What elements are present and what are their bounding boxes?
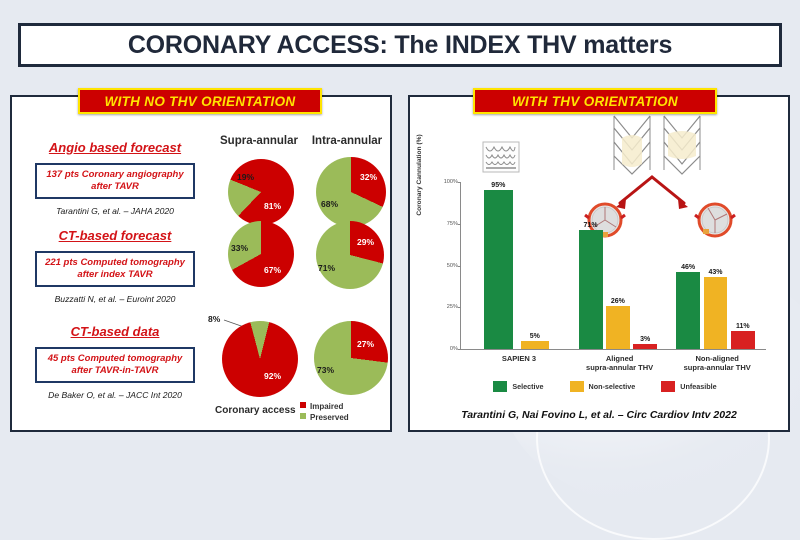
bar-chart: Coronary Cannulation (%) 0% 25% 50% 75% …: [438, 182, 768, 372]
page-title: CORONARY ACCESS: The INDEX THV matters: [128, 31, 672, 60]
ribbon-left-label: WITH NO THV ORIENTATION: [105, 94, 296, 109]
column-header-intra: Intra-annular: [297, 135, 397, 147]
ribbon-with-thv-orientation: WITH THV ORIENTATION: [473, 88, 717, 114]
coronary-access-label: Coronary access: [215, 405, 296, 416]
legend-preserved-label: Preserved: [310, 413, 349, 422]
balloon-expandable-stent-icon: [482, 141, 520, 173]
non-aligned-thv-icon: [660, 112, 706, 184]
pie-row2-supra-impaired-label: 67%: [264, 265, 281, 275]
plot-area: 0% 25% 50% 75% 100% 95% 5% SAPIEN 3: [460, 182, 766, 350]
pie-row1-supra-impaired-label: 81%: [264, 201, 281, 211]
right-panel: Coronary Cannulation (%) 0% 25% 50% 75% …: [408, 95, 790, 432]
legend-selective-label: Selective: [512, 382, 543, 391]
ribbon-right-label: WITH THV ORIENTATION: [512, 94, 678, 109]
row-3-heading: CT-based data: [71, 324, 160, 339]
x-category-aligned: Alignedsupra-annular THV: [586, 354, 653, 372]
legend-unfeasible-label: Unfeasible: [680, 382, 716, 391]
pie-row2-intra: [316, 221, 384, 289]
row-1-text: Angio based forecast 137 pts Coronary an…: [24, 139, 206, 216]
row-2-heading: CT-based forecast: [59, 228, 172, 243]
bar-label-aligned-nonselective: 26%: [611, 298, 625, 305]
pie-row3-intra-impaired-label: 27%: [357, 339, 374, 349]
bar-nonaligned-nonselective: 43%: [704, 277, 728, 349]
pie-row2-supra: [228, 221, 294, 287]
legend-preserved: Preserved: [300, 413, 349, 422]
row-3-text: CT-based data 45 pts Computed tomography…: [24, 323, 206, 400]
bar-label-nonaligned-unfeasible: 11%: [736, 323, 750, 330]
y-axis-title: Coronary Cannulation (%): [416, 120, 423, 230]
row-1-citation: Tarantini G, et al. – JAHA 2020: [24, 206, 206, 216]
pie-row2-intra-impaired-label: 29%: [357, 237, 374, 247]
pie-row3-supra-impaired-label: 92%: [264, 371, 281, 381]
pie-row3-intra: [314, 321, 388, 395]
bar-label-sapien3-selective: 95%: [491, 182, 505, 189]
slide-title-bar: CORONARY ACCESS: The INDEX THV matters: [18, 23, 782, 67]
pie-row2-intra-preserved-label: 71%: [318, 263, 335, 273]
legend-nonselective-label: Non-selective: [589, 382, 636, 391]
chart-legend-selective: Selective: [493, 381, 543, 392]
legend-impaired: Impaired: [300, 402, 343, 411]
bar-group-aligned: 71% 26% 3% Alignedsupra-annular THV: [577, 182, 662, 349]
left-row-2: CT-based forecast 221 pts Computed tomog…: [12, 219, 394, 319]
y-tick-0: 0%: [450, 346, 458, 352]
row-2-text: CT-based forecast 221 pts Computed tomog…: [24, 227, 206, 304]
legend-nonselective-swatch: [570, 381, 584, 392]
x-category-sapien3: SAPIEN 3: [502, 354, 536, 363]
chart-legend: Selective Non-selective Unfeasible: [440, 381, 770, 392]
pie-row3-supra: [222, 321, 298, 397]
legend-impaired-label: Impaired: [310, 402, 343, 411]
bar-label-nonaligned-nonselective: 43%: [708, 269, 722, 276]
row-2-box: 221 pts Computed tomography after index …: [35, 251, 195, 287]
bar-label-sapien3-nonselective: 5%: [530, 333, 540, 340]
row-1-heading: Angio based forecast: [49, 140, 181, 155]
chart-legend-nonselective: Non-selective: [570, 381, 636, 392]
right-panel-citation: Tarantini G, Nai Fovino L, et al. – Circ…: [410, 409, 788, 421]
bar-aligned-selective: 71%: [579, 230, 603, 349]
bar-nonaligned-unfeasible: 11%: [731, 331, 755, 349]
pie-row1-intra-preserved-label: 68%: [321, 199, 338, 209]
legend-impaired-swatch: [300, 402, 306, 408]
column-header-supra: Supra-annular: [209, 135, 309, 147]
aligned-thv-icon: [610, 112, 656, 184]
pie-row2-supra-preserved-label: 33%: [231, 243, 248, 253]
x-category-non-aligned: Non-alignedsupra-annular THV: [684, 354, 751, 372]
bar-label-aligned-unfeasible: 3%: [640, 336, 650, 343]
pie-row1-supra: [228, 159, 294, 225]
legend-unfeasible-swatch: [661, 381, 675, 392]
bar-nonaligned-selective: 46%: [676, 272, 700, 349]
bar-sapien3-nonselective: 5%: [521, 341, 550, 349]
bar-sapien3-selective: 95%: [484, 190, 513, 349]
bar-label-aligned-selective: 71%: [584, 222, 598, 229]
legend-selective-swatch: [493, 381, 507, 392]
pie-row3-intra-preserved-label: 73%: [317, 365, 334, 375]
pie-row1-intra-impaired-label: 32%: [360, 172, 377, 182]
bar-aligned-unfeasible: 3%: [633, 344, 657, 349]
y-tick-100: 100%: [444, 179, 458, 185]
row-1-box: 137 pts Coronary angiography after TAVR: [35, 163, 195, 199]
row-3-citation: De Baker O, et al. – JACC Int 2020: [24, 390, 206, 400]
pie-row1-supra-preserved-label: 19%: [237, 172, 254, 182]
bar-label-nonaligned-selective: 46%: [681, 264, 695, 271]
pie-row1-intra: [316, 157, 386, 227]
legend-preserved-swatch: [300, 413, 306, 419]
bar-aligned-nonselective: 26%: [606, 306, 630, 349]
pie-row3-supra-preserved-label: 8%: [208, 314, 220, 324]
row-3-box: 45 pts Computed tomography after TAVR-in…: [35, 347, 195, 383]
bar-group-non-aligned: 46% 43% 11% Non-alignedsupra-annular THV: [675, 182, 760, 349]
row-2-citation: Buzzatti N, et al. – Euroint 2020: [24, 294, 206, 304]
left-row-3: CT-based data 45 pts Computed tomography…: [12, 313, 394, 428]
left-row-1: Angio based forecast 137 pts Coronary an…: [12, 115, 394, 215]
bar-group-sapien3: 95% 5% SAPIEN 3: [479, 182, 558, 349]
chart-legend-unfeasible: Unfeasible: [661, 381, 716, 392]
y-tick-75: 75%: [447, 221, 458, 227]
y-tick-25: 25%: [447, 304, 458, 310]
ribbon-no-thv-orientation: WITH NO THV ORIENTATION: [78, 88, 322, 114]
y-tick-50: 50%: [447, 263, 458, 269]
left-panel: Angio based forecast 137 pts Coronary an…: [10, 95, 392, 432]
